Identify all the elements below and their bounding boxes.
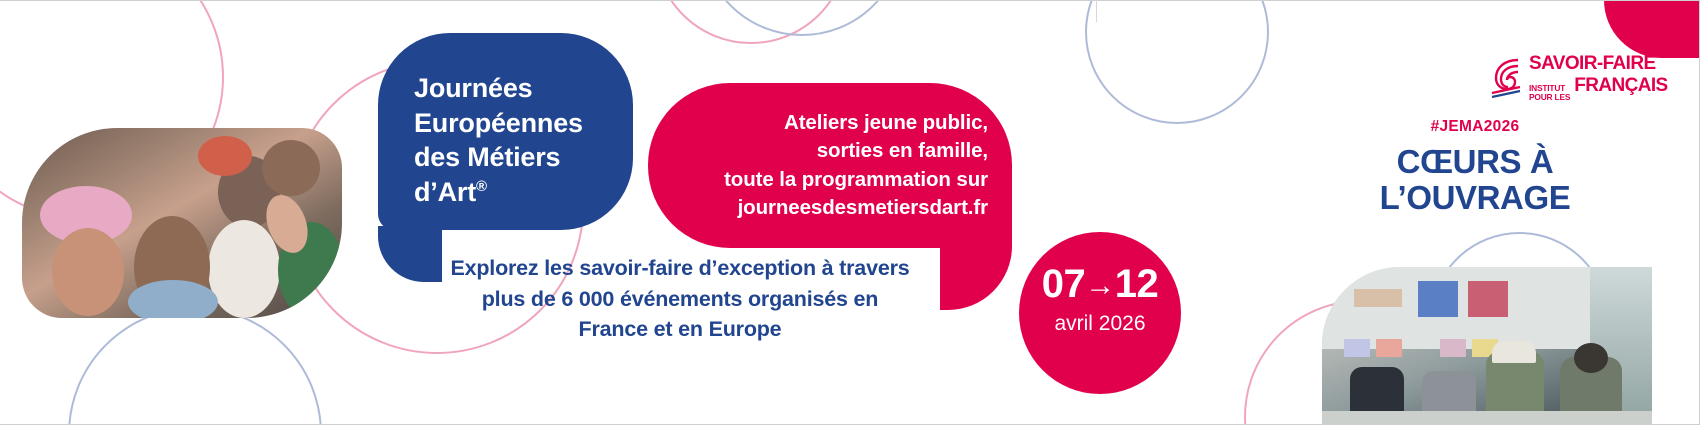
- photo-swatch: [1344, 339, 1370, 357]
- tagline-line-3: France et en Europe: [579, 317, 782, 341]
- photo-figure-cap: [1492, 341, 1536, 363]
- photo-figure: [208, 220, 280, 318]
- photo-artwork: [1418, 281, 1458, 317]
- jema-2026-banner: Journées Européennes des Métiers d’Art® …: [0, 0, 1700, 425]
- photo-swatch: [1440, 339, 1466, 357]
- banner-divider-tick: [1096, 0, 1097, 22]
- campaign-slogan: CŒURS À L’OUVRAGE: [1330, 144, 1620, 217]
- programme-line-3: toute la programmation sur: [724, 168, 988, 191]
- event-title-line-2: Européennes: [414, 108, 583, 138]
- date-range: 07→12: [1019, 262, 1181, 307]
- programme-website-link[interactable]: journeesdesmetiersdart.fr: [738, 196, 988, 219]
- logo-institut-block: INSTITUT POUR LES: [1529, 84, 1570, 102]
- campaign-slogan-line-2: L’OUVRAGE: [1380, 179, 1571, 216]
- programme-line-1: Ateliers jeune public,: [784, 111, 988, 134]
- spiral-mark-icon: [1488, 56, 1522, 100]
- event-title-line-1: Journées: [414, 73, 532, 103]
- programme-line-2: sorties en famille,: [817, 139, 988, 162]
- programme-info-text: Ateliers jeune public, sorties en famill…: [670, 109, 988, 222]
- photo-figure: [262, 140, 320, 196]
- date-badge: 07→12 avril 2026: [1019, 232, 1181, 394]
- campaign-block: #JEMA2026 CŒURS À L’OUVRAGE: [1330, 118, 1620, 217]
- photo-figure: [52, 228, 124, 316]
- campaign-hashtag[interactable]: #JEMA2026: [1330, 118, 1620, 136]
- logo-francais: FRANÇAIS: [1574, 76, 1667, 95]
- photo-table: [1322, 411, 1652, 425]
- photo-artwork: [1468, 281, 1508, 317]
- photo-figure-head: [1574, 343, 1608, 373]
- arrow-right-icon: →: [1085, 269, 1115, 302]
- photo-children-watching-demo: [22, 128, 342, 318]
- photo-figure-cap: [198, 136, 252, 176]
- photo-swatch: [1376, 339, 1402, 357]
- photo-workshop-visitors: [1322, 267, 1652, 425]
- photo-shelf-samples: [1354, 289, 1402, 307]
- decorative-circle-blue-1: [68, 307, 322, 425]
- logo-savoir-faire-francais[interactable]: SAVOIR-FAIRE INSTITUT POUR LES FRANÇAIS: [1488, 52, 1668, 104]
- campaign-slogan-line-1: CŒURS À: [1397, 143, 1554, 180]
- event-title-line-4: d’Art: [414, 177, 476, 207]
- event-title-line-3: des Métiers: [414, 142, 560, 172]
- tagline: Explorez les savoir-faire d’exception à …: [400, 253, 960, 345]
- logo-line-savoir-faire: SAVOIR-FAIRE: [1529, 54, 1668, 73]
- photo-figure: [128, 280, 218, 318]
- corner-accent: [1604, 0, 1700, 58]
- tagline-line-1: Explorez les savoir-faire d’exception à …: [450, 256, 909, 280]
- registered-trademark-icon: ®: [476, 178, 487, 195]
- logo-wordmark: SAVOIR-FAIRE INSTITUT POUR LES FRANÇAIS: [1529, 54, 1668, 102]
- event-title-text: Journées Européennes des Métiers d’Art®: [414, 71, 621, 209]
- date-start: 07: [1042, 262, 1086, 306]
- logo-line-2-row: INSTITUT POUR LES FRANÇAIS: [1529, 76, 1668, 102]
- decorative-circle-blue-3: [1085, 0, 1269, 124]
- date-end: 12: [1115, 262, 1159, 306]
- logo-pour-les: POUR LES: [1529, 93, 1570, 102]
- date-month-year: avril 2026: [1019, 312, 1181, 336]
- speech-bubble-event-title: Journées Européennes des Métiers d’Art®: [378, 33, 633, 230]
- banner-top-edge: [0, 0, 1700, 1]
- speech-bubble-programme-info: Ateliers jeune public, sorties en famill…: [648, 83, 1012, 248]
- tagline-line-2: plus de 6 000 événements organisés en: [482, 287, 879, 311]
